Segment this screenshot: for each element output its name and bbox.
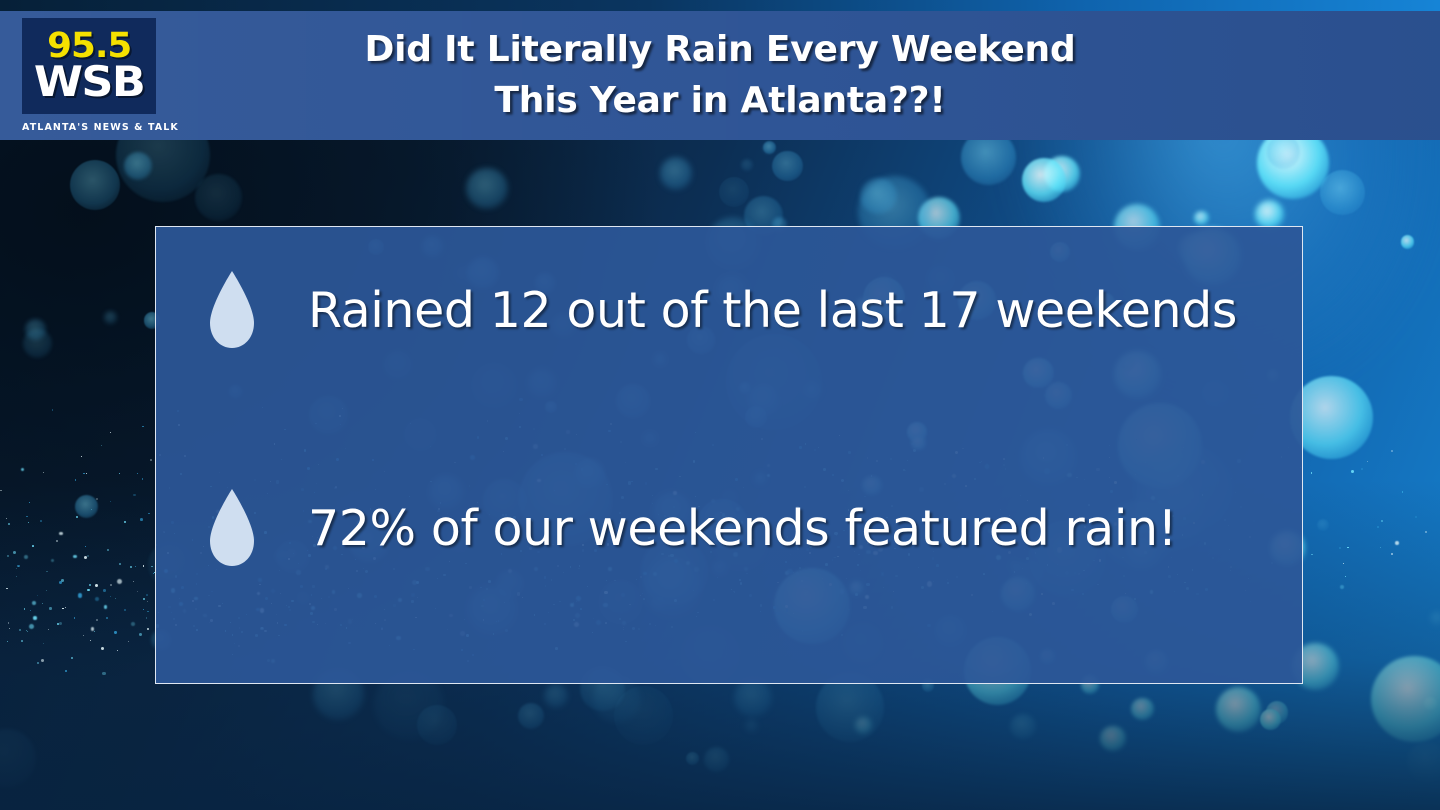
sparkle-dot — [143, 609, 144, 610]
sparkle-dot — [7, 641, 8, 642]
bullet-text-2: 72% of our weekends featured rain! — [308, 500, 1177, 557]
sparkle-dot — [153, 573, 154, 574]
sparkle-dot — [146, 617, 147, 618]
sparkle-dot — [8, 622, 9, 623]
sparkle-dot — [26, 630, 27, 631]
sparkle-dot — [78, 593, 82, 597]
sparkle-dot — [110, 501, 111, 502]
sparkle-dot — [24, 608, 26, 610]
sparkle-dot — [94, 631, 95, 632]
sparkle-dot — [49, 607, 51, 609]
slide-canvas: 95.5 WSB ATLANTA'S NEWS & TALK Did It Li… — [0, 0, 1440, 810]
content-panel: Rained 12 out of the last 17 weekends 72… — [155, 226, 1303, 684]
sparkle-dot — [1347, 547, 1349, 549]
sparkle-dot — [86, 473, 87, 474]
sparkle-dot — [96, 498, 98, 500]
sparkle-dot — [56, 540, 58, 542]
sparkle-dot — [139, 633, 142, 636]
sparkle-dot — [81, 456, 82, 457]
sparkle-dot — [89, 584, 91, 586]
sparkle-dot — [29, 624, 34, 629]
sparkle-dot — [28, 522, 29, 523]
sparkle-dot — [46, 590, 47, 591]
sparkle-dot — [147, 628, 149, 630]
sparkle-dot — [1361, 468, 1363, 470]
sparkle-dot — [1425, 531, 1427, 533]
sparkle-dot — [1377, 526, 1379, 528]
sparkle-dot — [1340, 585, 1344, 589]
sparkle-dot — [1381, 520, 1383, 522]
sparkle-dot — [27, 631, 28, 632]
page-title-line-2: This Year in Atlanta??! — [200, 75, 1240, 126]
sparkle-dot — [19, 629, 21, 631]
sparkle-dot — [48, 629, 49, 630]
sparkle-dot — [59, 622, 62, 625]
sparkle-dot — [83, 635, 84, 636]
sparkle-dot — [62, 608, 64, 610]
sparkle-dot — [142, 478, 143, 479]
sparkle-dot — [21, 468, 25, 472]
sparkle-dot — [43, 472, 44, 473]
sparkle-dot — [110, 432, 111, 433]
sparkle-dot — [16, 568, 17, 569]
sparkle-dot — [41, 659, 44, 662]
sparkle-dot — [76, 516, 78, 518]
sparkle-dot — [65, 607, 66, 608]
sparkle-dot — [102, 672, 105, 675]
sparkle-dot — [59, 581, 62, 584]
sparkle-dot — [1380, 547, 1381, 548]
sparkle-dot — [103, 589, 106, 592]
sparkle-dot — [104, 605, 107, 608]
sparkle-dot — [13, 551, 16, 554]
sparkle-dot — [32, 545, 34, 547]
bullet-item-1: Rained 12 out of the last 17 weekends — [208, 271, 1237, 349]
sparkle-dot — [1402, 491, 1404, 493]
sparkle-dot — [1339, 547, 1340, 548]
sparkle-dot — [9, 628, 10, 629]
sparkle-dot — [29, 502, 31, 504]
sparkle-dot — [74, 617, 76, 619]
sparkle-dot — [32, 601, 36, 605]
sparkle-dot — [148, 513, 149, 514]
sparkle-dot — [17, 565, 19, 567]
sparkle-dot — [117, 579, 122, 584]
sparkle-dot — [26, 516, 28, 518]
station-logo[interactable]: 95.5 WSB ATLANTA'S NEWS & TALK — [22, 18, 156, 140]
sparkle-dot — [91, 509, 92, 510]
sparkle-dot — [52, 409, 53, 410]
sparkle-dot — [6, 518, 7, 519]
sparkle-dot — [140, 518, 143, 521]
sparkle-dot — [0, 490, 2, 492]
page-title: Did It Literally Rain Every Weekend This… — [200, 24, 1240, 126]
sparkle-dot — [1311, 472, 1313, 474]
sparkle-dot — [30, 610, 32, 612]
sparkle-dot — [137, 473, 138, 474]
sparkle-dot — [87, 555, 89, 557]
sparkle-dot — [59, 532, 63, 536]
sparkle-dot — [1415, 516, 1417, 518]
sparkle-dot — [1395, 541, 1399, 545]
water-drop-icon — [208, 271, 256, 349]
sparkle-dot — [95, 584, 98, 587]
sparkle-dot — [6, 588, 7, 589]
sparkle-dot — [42, 603, 43, 604]
sparkle-dot — [8, 523, 10, 525]
sparkle-dot — [142, 426, 144, 428]
sparkle-dot — [137, 591, 138, 592]
logo-tagline: ATLANTA'S NEWS & TALK — [22, 122, 156, 133]
sparkle-dot — [46, 571, 47, 572]
sparkle-dot — [51, 559, 55, 563]
sparkle-dot — [124, 521, 125, 522]
sparkle-dot — [90, 640, 91, 641]
sparkle-dot — [95, 597, 100, 602]
sparkle-dot — [75, 479, 77, 481]
sparkle-dot — [65, 670, 67, 672]
sparkle-dot — [133, 494, 136, 497]
sparkle-dot — [7, 555, 8, 556]
sparkle-dot — [1391, 553, 1392, 554]
sparkle-dot — [150, 459, 151, 460]
sparkle-dot — [114, 631, 116, 633]
sparkle-dot — [43, 643, 44, 644]
sparkle-dot — [133, 581, 134, 582]
sparkle-dot — [1311, 554, 1312, 555]
sparkle-dot — [143, 598, 145, 600]
sparkle-dot — [119, 473, 120, 474]
page-title-line-1: Did It Literally Rain Every Weekend — [200, 24, 1240, 75]
sparkle-dot — [131, 622, 135, 626]
logo-badge: 95.5 WSB — [22, 18, 156, 114]
sparkle-dot — [1391, 450, 1393, 452]
sparkle-dot — [128, 641, 129, 642]
sparkle-dot — [151, 566, 152, 567]
sparkle-dot — [147, 611, 149, 613]
top-accent-strip — [0, 0, 1440, 11]
sparkle-dot — [73, 555, 77, 559]
sparkle-dot — [71, 657, 73, 659]
sparkle-dot — [124, 609, 126, 611]
sparkle-dot — [37, 662, 39, 664]
sparkle-dot — [147, 601, 148, 602]
sparkle-dot — [146, 594, 148, 596]
sparkle-dot — [21, 640, 22, 641]
bullet-item-2: 72% of our weekends featured rain! — [208, 489, 1177, 567]
sparkle-dot — [107, 549, 110, 552]
sparkle-dot — [110, 584, 112, 586]
sparkle-dot — [40, 520, 42, 522]
sparkle-dot — [33, 616, 37, 620]
sparkle-dot — [85, 546, 86, 547]
sparkle-dot — [110, 596, 111, 597]
sparkle-dot — [1343, 563, 1344, 564]
sparkle-dot — [101, 445, 102, 446]
sparkle-dot — [130, 566, 132, 568]
sparkle-dot — [16, 576, 17, 577]
sparkle-dot — [96, 619, 98, 621]
sparkle-dot — [37, 595, 38, 596]
sparkle-dot — [87, 589, 90, 592]
sparkle-dot — [115, 598, 116, 599]
sparkle-dot — [106, 617, 108, 619]
logo-callsign: WSB — [34, 61, 144, 103]
sparkle-dot — [83, 473, 84, 474]
sparkle-dot — [24, 555, 28, 559]
sparkle-dot — [1367, 461, 1368, 462]
sparkle-dot — [101, 647, 104, 650]
sparkle-dot — [1351, 470, 1354, 473]
sparkle-dot — [1345, 576, 1346, 577]
bullet-text-1: Rained 12 out of the last 17 weekends — [308, 282, 1237, 339]
sparkle-dot — [135, 566, 136, 567]
sparkle-dot — [117, 650, 118, 651]
sparkle-dot — [143, 565, 144, 566]
water-drop-icon — [208, 489, 256, 567]
sparkle-dot — [119, 563, 121, 565]
